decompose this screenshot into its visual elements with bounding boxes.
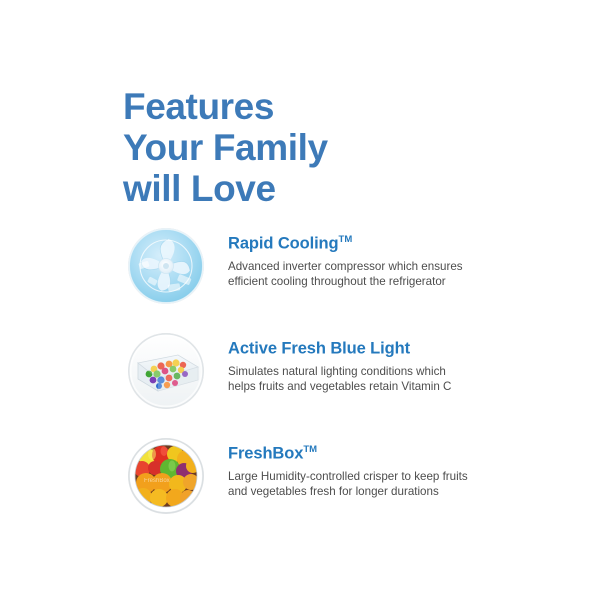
feature-description-line-2: efficient cooling throughout the refrige… <box>228 274 528 290</box>
feature-description-line-1: Advanced inverter compressor which ensur… <box>228 259 528 275</box>
svg-text:FreshBox: FreshBox <box>144 478 170 484</box>
active-fresh-blue-light-drawer-icon <box>128 333 204 409</box>
feature-text-block: Rapid CoolingTM Advanced inverter compre… <box>228 230 528 290</box>
feature-description: Large Humidity-controlled crisper to kee… <box>228 469 528 500</box>
freshbox-produce-icon: FreshBox <box>128 438 204 514</box>
list-item: FreshBox FreshBoxTM Large Humidity-contr… <box>0 432 600 527</box>
trademark-mark: TM <box>339 234 353 245</box>
list-item: Rapid CoolingTM Advanced inverter compre… <box>0 222 600 327</box>
feature-description: Simulates natural lighting conditions wh… <box>228 364 528 395</box>
feature-title-text: Active Fresh Blue Light <box>228 340 410 358</box>
feature-description-line-1: Simulates natural lighting conditions wh… <box>228 364 528 380</box>
page-title: Features Your Family will Love <box>123 86 543 209</box>
feature-highlight-page: Features Your Family will Love <box>0 0 600 600</box>
list-item: Active Fresh Blue Light Simulates natura… <box>0 327 600 432</box>
page-title-line-1: Features <box>123 86 543 127</box>
feature-title-text: FreshBox <box>228 445 303 463</box>
feature-text-block: Active Fresh Blue Light Simulates natura… <box>228 335 528 395</box>
feature-description: Advanced inverter compressor which ensur… <box>228 259 528 290</box>
feature-description-line-2: and vegetables fresh for longer duration… <box>228 484 528 500</box>
page-title-line-3: will Love <box>123 168 543 209</box>
feature-list: Rapid CoolingTM Advanced inverter compre… <box>0 222 600 527</box>
feature-description-line-2: helps fruits and vegetables retain Vitam… <box>228 379 528 395</box>
rapid-cooling-fan-icon <box>128 228 204 304</box>
feature-title: FreshBoxTM <box>228 440 528 464</box>
trademark-mark: TM <box>303 444 317 455</box>
feature-title: Rapid CoolingTM <box>228 230 528 254</box>
feature-title: Active Fresh Blue Light <box>228 335 528 359</box>
page-title-line-2: Your Family <box>123 127 543 168</box>
feature-title-text: Rapid Cooling <box>228 235 339 253</box>
feature-description-line-1: Large Humidity-controlled crisper to kee… <box>228 469 528 485</box>
feature-text-block: FreshBoxTM Large Humidity-controlled cri… <box>228 440 528 500</box>
